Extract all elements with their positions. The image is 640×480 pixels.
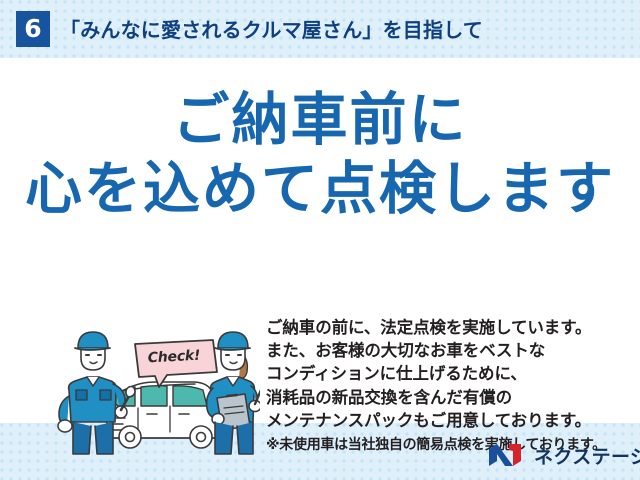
- body-line-4: 消耗品の新品交換を含んだ有償の: [266, 386, 628, 409]
- headline-line-1: ご納車前に: [0, 92, 640, 149]
- header-tagline: 「みんなに愛されるクルマ屋さん」を目指して: [60, 14, 483, 43]
- body-line-1: ご納車の前に、法定点検を実施しています。: [266, 316, 628, 339]
- body-line-5: メンテナンスパックもご用意しております。: [266, 409, 628, 432]
- mechanics-illustration: Check!: [55, 326, 260, 458]
- content-card: ご納車前に 心を込めて点検します ご納車の前に、法定点検を実施しています。 また…: [0, 58, 640, 423]
- headline: ご納車前に 心を込めて点検します: [0, 92, 640, 218]
- nextage-n-mark-icon: [487, 442, 527, 468]
- brand-name: ネクステージ: [534, 442, 640, 469]
- body-line-3: コンディションに仕上げるために、: [266, 362, 628, 385]
- step-number-badge: 6: [16, 11, 50, 47]
- body-copy: ご納車の前に、法定点検を実施しています。 また、お客様の大切なお車をベストな コ…: [266, 316, 628, 456]
- headline-line-2: 心を込めて点検します: [0, 161, 640, 218]
- brand-logo: ネクステージ: [487, 441, 640, 469]
- body-line-2: また、お客様の大切なお車をベストな: [266, 339, 628, 362]
- banner-header: 6 「みんなに愛されるクルマ屋さん」を目指して: [0, 0, 640, 58]
- promotional-banner: 6 「みんなに愛されるクルマ屋さん」を目指して ご納車前に 心を込めて点検します…: [0, 0, 640, 480]
